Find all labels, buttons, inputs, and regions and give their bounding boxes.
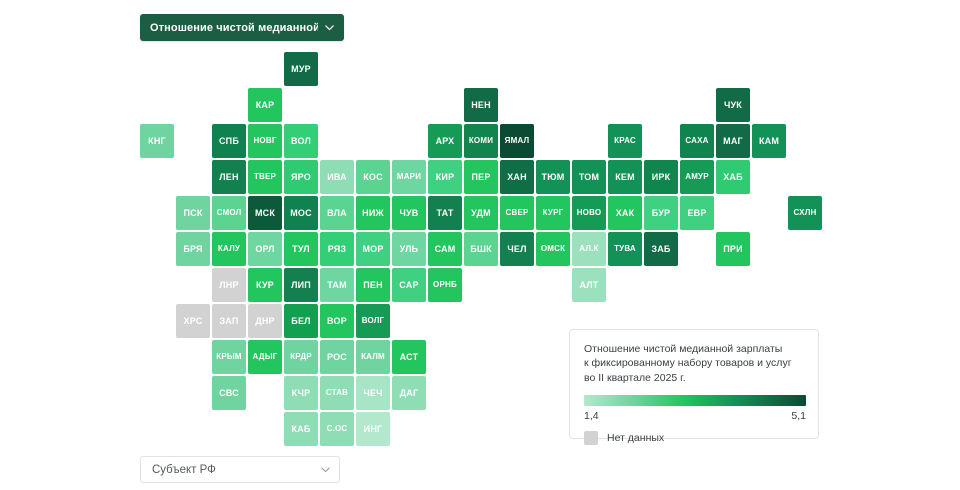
map-tile-label: ЯМАЛ: [505, 137, 530, 145]
map-tile-label: ВЛА: [327, 209, 347, 218]
map-tile-label: КНГ: [148, 137, 166, 146]
map-tile-label: СТАВ: [326, 389, 348, 397]
map-tile-крым[interactable]: КРЫМ: [212, 340, 246, 374]
map-tile-зап[interactable]: ЗАП: [212, 304, 246, 338]
map-tile-свс[interactable]: СВС: [212, 376, 246, 410]
subject-dropdown-label: Субъект РФ: [152, 464, 314, 476]
map-tile-мари[interactable]: МАРИ: [392, 160, 426, 194]
map-tile-аст[interactable]: АСТ: [392, 340, 426, 374]
map-tile-label: ВОР: [327, 317, 347, 326]
map-tile-кчр[interactable]: КЧР: [284, 376, 318, 410]
map-tile-label: КОМИ: [469, 137, 493, 145]
map-tile-label: С.ОС: [327, 425, 348, 433]
map-tile-label: КЕМ: [615, 173, 635, 182]
map-tile-label: ИРК: [652, 173, 671, 182]
map-tile-label: КУР: [256, 281, 274, 290]
map-tile-label: ТВЕР: [254, 173, 276, 181]
map-tile-вор[interactable]: ВОР: [320, 304, 354, 338]
map-tile-тюм[interactable]: ТЮМ: [536, 160, 570, 194]
map-tile-кос[interactable]: КОС: [356, 160, 390, 194]
map-tile-орнб[interactable]: ОРНБ: [428, 268, 462, 302]
map-tile-label: ЧЕЧ: [363, 389, 382, 398]
map-tile-тува[interactable]: ТУВА: [608, 232, 642, 266]
map-tile-label: АСТ: [400, 353, 419, 362]
map-tile-ал-к[interactable]: АЛ.К: [572, 232, 606, 266]
map-tile-хак[interactable]: ХАК: [608, 196, 642, 230]
map-tile-мск[interactable]: МСК: [248, 196, 282, 230]
map-tile-ива[interactable]: ИВА: [320, 160, 354, 194]
map-tile-там[interactable]: ТАМ: [320, 268, 354, 302]
map-tile-бря[interactable]: БРЯ: [176, 232, 210, 266]
map-tile-кург[interactable]: КУРГ: [536, 196, 570, 230]
map-tile-label: ОРНБ: [433, 281, 457, 289]
map-tile-label: ЛНР: [219, 281, 238, 290]
map-tile-label: УЛЬ: [400, 245, 419, 254]
map-tile-том[interactable]: ТОМ: [572, 160, 606, 194]
map-tile-label: МАГ: [723, 137, 743, 146]
map-tile-кир[interactable]: КИР: [428, 160, 462, 194]
map-tile-label: МОС: [290, 209, 312, 218]
map-tile-label: МАРИ: [397, 173, 421, 181]
map-tile-крдр[interactable]: КРДР: [284, 340, 318, 374]
map-tile-label: САР: [399, 281, 418, 290]
map-tile-label: ЯРО: [291, 173, 311, 182]
map-tile-ниж[interactable]: НИЖ: [356, 196, 390, 230]
map-tile-label: АРХ: [436, 137, 455, 146]
map-tile-кар[interactable]: КАР: [248, 88, 282, 122]
map-tile-инг[interactable]: ИНГ: [356, 412, 390, 446]
map-tile-ряз[interactable]: РЯЗ: [320, 232, 354, 266]
subject-dropdown[interactable]: Субъект РФ: [140, 456, 340, 483]
map-tile-label: САХА: [685, 137, 708, 145]
map-tile-удм[interactable]: УДМ: [464, 196, 498, 230]
map-tile-крас[interactable]: КРАС: [608, 124, 642, 158]
map-tile-хан[interactable]: ХАН: [500, 160, 534, 194]
map-tile-хрс[interactable]: ХРС: [176, 304, 210, 338]
map-tile-яро[interactable]: ЯРО: [284, 160, 318, 194]
legend-max-label: 5,1: [791, 410, 806, 422]
map-tile-орл[interactable]: ОРЛ: [248, 232, 282, 266]
map-tile-ново[interactable]: НОВО: [572, 196, 606, 230]
map-tile-чеч[interactable]: ЧЕЧ: [356, 376, 390, 410]
map-tile-label: ПСК: [183, 209, 202, 218]
map-tile-label: АЛТ: [579, 281, 598, 290]
map-tile-ямал[interactable]: ЯМАЛ: [500, 124, 534, 158]
map-tile-label: ИВА: [327, 173, 347, 182]
map-tile-саха[interactable]: САХА: [680, 124, 714, 158]
map-tile-label: ТОМ: [579, 173, 599, 182]
map-tile-лнр[interactable]: ЛНР: [212, 268, 246, 302]
map-tile-днр[interactable]: ДНР: [248, 304, 282, 338]
map-tile-лип[interactable]: ЛИП: [284, 268, 318, 302]
map-tile-label: КЧР: [292, 389, 311, 398]
map-tile-бшк[interactable]: БШК: [464, 232, 498, 266]
map-tile-label: РЯЗ: [328, 245, 347, 254]
map-tile-кам[interactable]: КАМ: [752, 124, 786, 158]
map-tile-label: КАМ: [759, 137, 779, 146]
map-tile-спб[interactable]: СПБ: [212, 124, 246, 158]
map-tile-label: ТУВА: [614, 245, 636, 253]
map-tile-тат[interactable]: ТАТ: [428, 196, 462, 230]
map-tile-бур[interactable]: БУР: [644, 196, 678, 230]
legend-panel: Отношение чистой медианной зарплаты к фи…: [569, 329, 819, 439]
map-tile-label: НОВО: [577, 209, 602, 217]
map-tile-label: КУРГ: [543, 209, 564, 217]
map-tile-ирк[interactable]: ИРК: [644, 160, 678, 194]
map-tile-мос[interactable]: МОС: [284, 196, 318, 230]
map-tile-label: КАБ: [291, 425, 310, 434]
map-tile-label: КРЫМ: [216, 353, 242, 361]
map-tile-label: ЗАБ: [651, 245, 670, 254]
map-tile-label: ЧУВ: [399, 209, 418, 218]
map-tile-label: ОМСК: [541, 245, 565, 253]
map-tile-label: ЗАП: [219, 317, 238, 326]
map-tile-бел[interactable]: БЕЛ: [284, 304, 318, 338]
map-tile-label: АЛ.К: [579, 245, 598, 253]
map-tile-коми[interactable]: КОМИ: [464, 124, 498, 158]
legend-min-label: 1,4: [584, 410, 599, 422]
map-tile-label: ЛИП: [291, 281, 311, 290]
map-tile-label: ЧЕЛ: [507, 245, 526, 254]
map-tile-сам[interactable]: САМ: [428, 232, 462, 266]
map-tile-label: НОВГ: [253, 137, 276, 145]
map-tile-кем[interactable]: КЕМ: [608, 160, 642, 194]
map-tile-label: РОС: [327, 353, 347, 362]
map-tile-label: АДЫГ: [253, 353, 278, 361]
map-tile-label: ПРИ: [723, 245, 743, 254]
map-tile-label: МСК: [255, 209, 275, 218]
map-tile-омск[interactable]: ОМСК: [536, 232, 570, 266]
map-tile-заб[interactable]: ЗАБ: [644, 232, 678, 266]
legend-scale: 1,4 5,1: [584, 410, 806, 422]
map-tile-label: УДМ: [471, 209, 491, 218]
map-tile-label: ДНР: [255, 317, 275, 326]
map-tile-вол[interactable]: ВОЛ: [284, 124, 318, 158]
map-tile-label: ТУЛ: [292, 245, 310, 254]
map-tile-кнг[interactable]: КНГ: [140, 124, 174, 158]
map-tile-label: ПЕН: [363, 281, 383, 290]
map-tile-label: ИНГ: [364, 425, 383, 434]
map-tile-тул[interactable]: ТУЛ: [284, 232, 318, 266]
map-tile-даг[interactable]: ДАГ: [392, 376, 426, 410]
map-tile-label: СХЛН: [794, 209, 817, 217]
map-tile-свер[interactable]: СВЕР: [500, 196, 534, 230]
map-tile-алт[interactable]: АЛТ: [572, 268, 606, 302]
map-tile-пен[interactable]: ПЕН: [356, 268, 390, 302]
map-tile-калу[interactable]: КАЛУ: [212, 232, 246, 266]
map-tile-чув[interactable]: ЧУВ: [392, 196, 426, 230]
map-tile-label: ХАН: [507, 173, 527, 182]
map-tile-label: СВЕР: [505, 209, 528, 217]
map-tile-label: СПБ: [219, 137, 239, 146]
legend-no-data-label: Нет данных: [607, 432, 664, 444]
map-tile-label: БУР: [652, 209, 670, 218]
map-tile-label: МОР: [362, 245, 383, 254]
map-tile-пск[interactable]: ПСК: [176, 196, 210, 230]
map-tile-label: КАЛУ: [218, 245, 240, 253]
map-tile-label: МУР: [291, 65, 311, 74]
map-tile-сар[interactable]: САР: [392, 268, 426, 302]
map-tile-смол[interactable]: СМОЛ: [212, 196, 246, 230]
map-tile-евр[interactable]: ЕВР: [680, 196, 714, 230]
map-tile-label: КРДР: [290, 353, 312, 361]
map-tile-label: БШК: [470, 245, 492, 254]
map-tile-label: КОС: [363, 173, 383, 182]
map-tile-label: ЕВР: [687, 209, 706, 218]
map-tile-схлн[interactable]: СХЛН: [788, 196, 822, 230]
map-tile-с-ос[interactable]: С.ОС: [320, 412, 354, 446]
map-tile-label: ПЕР: [471, 173, 490, 182]
map-tile-label: ЧУК: [724, 101, 742, 110]
map-tile-label: КРАС: [614, 137, 636, 145]
legend-title: Отношение чистой медианной зарплаты к фи…: [584, 342, 804, 385]
map-tile-при[interactable]: ПРИ: [716, 232, 750, 266]
map-tile-твер[interactable]: ТВЕР: [248, 160, 282, 194]
legend-gradient-bar: [584, 395, 806, 406]
map-tile-label: ВОЛ: [291, 137, 311, 146]
map-tile-вла[interactable]: ВЛА: [320, 196, 354, 230]
map-tile-label: ОРЛ: [255, 245, 274, 254]
map-tile-label: ДАГ: [400, 389, 419, 398]
map-tile-рос[interactable]: РОС: [320, 340, 354, 374]
map-tile-label: ТАТ: [436, 209, 453, 218]
map-tile-пер[interactable]: ПЕР: [464, 160, 498, 194]
map-tile-мор[interactable]: МОР: [356, 232, 390, 266]
map-tile-адыг[interactable]: АДЫГ: [248, 340, 282, 374]
map-tile-label: СВС: [219, 389, 239, 398]
map-tile-чук[interactable]: ЧУК: [716, 88, 750, 122]
map-tile-label: ХРС: [184, 317, 203, 326]
map-tile-label: СМОЛ: [217, 209, 242, 217]
no-data-swatch-icon: [584, 431, 598, 445]
map-tile-label: ТЮМ: [542, 173, 565, 182]
cartogram-page: Отношение чистой медианной... МУРКАРНЕНЧ…: [0, 0, 960, 490]
map-tile-хаб[interactable]: ХАБ: [716, 160, 750, 194]
map-tile-амур[interactable]: АМУР: [680, 160, 714, 194]
map-tile-label: КИР: [436, 173, 455, 182]
map-tile-label: ХАБ: [723, 173, 743, 182]
map-tile-чел[interactable]: ЧЕЛ: [500, 232, 534, 266]
map-tile-label: КАР: [256, 101, 275, 110]
map-tile-волг[interactable]: ВОЛГ: [356, 304, 390, 338]
map-tile-нен[interactable]: НЕН: [464, 88, 498, 122]
legend-no-data-row: Нет данных: [584, 431, 804, 445]
map-tile-калм[interactable]: КАЛМ: [356, 340, 390, 374]
map-tile-label: ХАК: [616, 209, 635, 218]
map-tile-label: САМ: [435, 245, 456, 254]
map-tile-арх[interactable]: АРХ: [428, 124, 462, 158]
map-tile-label: НИЖ: [362, 209, 384, 218]
map-tile-кур[interactable]: КУР: [248, 268, 282, 302]
map-tile-уль[interactable]: УЛЬ: [392, 232, 426, 266]
map-tile-мур[interactable]: МУР: [284, 52, 318, 86]
map-tile-label: БЕЛ: [291, 317, 310, 326]
map-tile-став[interactable]: СТАВ: [320, 376, 354, 410]
map-tile-новг[interactable]: НОВГ: [248, 124, 282, 158]
map-tile-лен[interactable]: ЛЕН: [212, 160, 246, 194]
map-tile-label: ЛЕН: [219, 173, 238, 182]
map-tile-label: АМУР: [685, 173, 709, 181]
chevron-down-icon: [320, 464, 331, 475]
map-tile-label: ВОЛГ: [362, 317, 385, 325]
map-tile-label: ТАМ: [327, 281, 347, 290]
map-tile-маг[interactable]: МАГ: [716, 124, 750, 158]
map-tile-label: НЕН: [471, 101, 491, 110]
map-tile-каб[interactable]: КАБ: [284, 412, 318, 446]
map-tile-label: КАЛМ: [361, 353, 385, 361]
map-tile-label: БРЯ: [183, 245, 202, 254]
